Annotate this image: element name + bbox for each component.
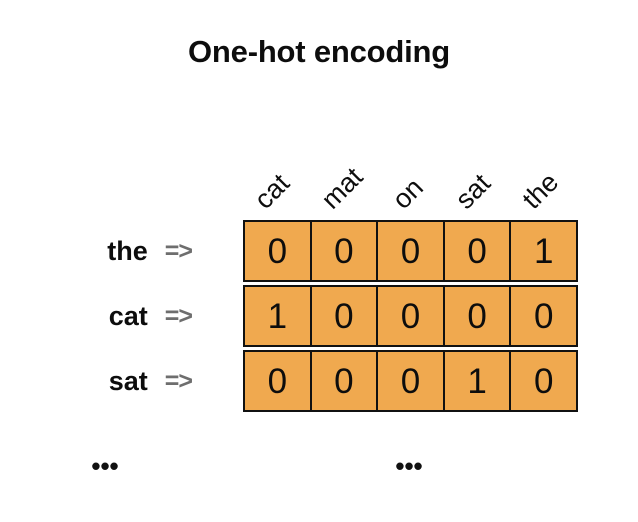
matrix-cell: 1	[445, 352, 512, 410]
matrix-cell: 0	[378, 352, 445, 410]
matrix-cell: 0	[312, 287, 379, 345]
ellipsis-labels: •••	[91, 453, 118, 479]
matrix-cell: 0	[378, 287, 445, 345]
matrix-row-sat: 0 0 0 1 0	[243, 350, 578, 412]
matrix-cell: 1	[511, 222, 576, 280]
matrix-cell: 0	[245, 222, 312, 280]
matrix-cell: 0	[445, 287, 512, 345]
row-label-sat: sat =>	[0, 350, 243, 412]
matrix-row-the: 0 0 0 0 1	[243, 220, 578, 282]
column-header-on: on	[388, 174, 428, 214]
matrix-cell: 0	[312, 352, 379, 410]
one-hot-encoding-figure: One-hot encoding cat mat on sat the the …	[0, 0, 638, 522]
ellipsis-matrix: •••	[395, 453, 422, 479]
column-header-the: the	[518, 168, 564, 214]
row-arrow-the: =>	[165, 237, 192, 266]
row-label-the: the =>	[0, 220, 243, 282]
matrix-cell: 0	[312, 222, 379, 280]
matrix-cell: 0	[511, 287, 576, 345]
row-word-cat: cat	[109, 301, 148, 332]
matrix-row-cat: 1 0 0 0 0	[243, 285, 578, 347]
matrix-cell: 0	[378, 222, 445, 280]
row-word-the: the	[107, 236, 148, 267]
matrix-cell: 0	[245, 352, 312, 410]
column-header-row: cat mat on sat the	[243, 130, 578, 214]
matrix-cell: 0	[445, 222, 512, 280]
column-header-sat: sat	[451, 169, 496, 214]
row-arrow-sat: =>	[165, 367, 192, 396]
row-word-sat: sat	[109, 366, 148, 397]
row-arrow-cat: =>	[165, 302, 192, 331]
figure-title: One-hot encoding	[0, 34, 638, 70]
row-label-cat: cat =>	[0, 285, 243, 347]
matrix-cell: 1	[245, 287, 312, 345]
column-header-mat: mat	[317, 163, 368, 214]
matrix-cell: 0	[511, 352, 576, 410]
column-header-cat: cat	[250, 169, 295, 214]
